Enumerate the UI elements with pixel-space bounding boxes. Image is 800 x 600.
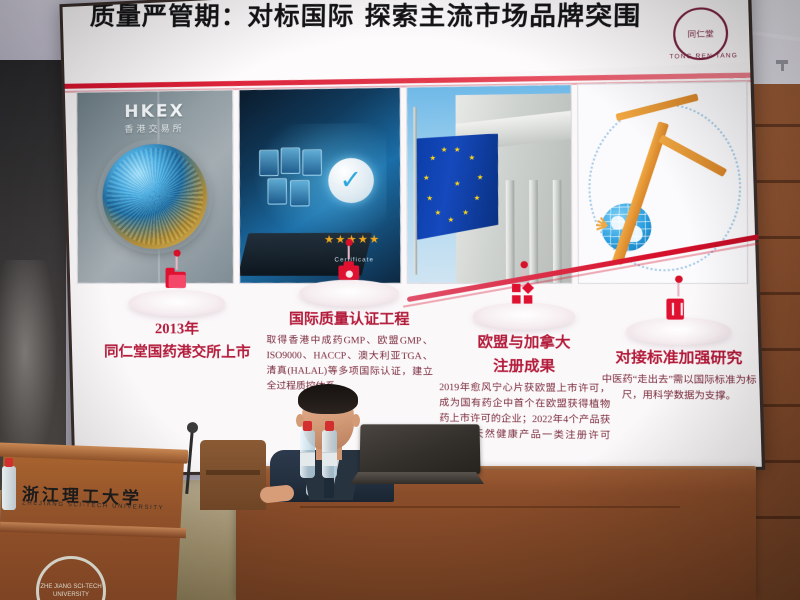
speaker-hair: [298, 384, 358, 414]
hkex-logo-text: HKEX: [124, 101, 185, 122]
laptop: [350, 424, 484, 486]
column-4: 对接标准加强研究 中医药“走出去”需以国际标准为标尺，用科学数据为支撑。: [597, 317, 762, 405]
lecture-hall-scene: 质量严管期：对标国际 探索主流市场品牌突围 同仁堂 TONG REN TANG …: [0, 0, 800, 600]
chair-back: [200, 440, 266, 510]
column-4-body: 中医药“走出去”需以国际标准为标尺，用科学数据为支撑。: [597, 373, 761, 406]
column-2-body: 取得香港中成药GMP、欧盟GMP、ISO9000、HACCP、澳大利亚TGA、清…: [262, 334, 437, 397]
check-icon: ✓: [339, 168, 362, 195]
seal-en-text: TONG REN TANG: [669, 53, 738, 61]
water-bottle-3: [2, 466, 16, 510]
hkex-logo-cn: 香港交易所: [124, 121, 184, 135]
column-3-title-line1: 欧盟与加拿大: [435, 333, 615, 354]
book-icon: [666, 299, 690, 322]
left-wall-panel: [0, 60, 66, 490]
seal-cn-text: 同仁堂: [687, 29, 713, 39]
pedestal-1: [128, 290, 225, 316]
pedestal-2: [299, 280, 399, 307]
column-1-title-line2: 同仁堂国药港交所上市: [93, 343, 263, 363]
chair-seat-line: [206, 470, 260, 475]
column-2-title-line1: 国际质量认证工程: [262, 310, 437, 330]
laptop-screen: [360, 424, 481, 474]
ceiling-fixture-icon: [776, 60, 788, 64]
pedestal-3: [473, 302, 576, 329]
factory-icon: [337, 261, 360, 284]
folder-icon: [166, 272, 188, 294]
slide-title: 质量严管期：对标国际 探索主流市场品牌突围: [90, 0, 741, 33]
desk-panel-line: [300, 506, 680, 508]
pin-stem-2: [348, 245, 350, 259]
pin-stem-1: [176, 256, 178, 270]
column-1-title-line1: 2013年: [93, 320, 263, 340]
water-bottle-1: [300, 430, 315, 478]
water-bottle-2: [322, 430, 337, 478]
column-4-title-line1: 对接标准加强研究: [597, 349, 761, 370]
column-1: 2013年 同仁堂国药港交所上市: [92, 290, 262, 363]
laptop-keyboard: [350, 472, 484, 484]
column-3-title-line2: 注册成果: [435, 357, 615, 378]
pedestal-4: [626, 317, 731, 345]
pin-stem-4: [677, 282, 679, 297]
